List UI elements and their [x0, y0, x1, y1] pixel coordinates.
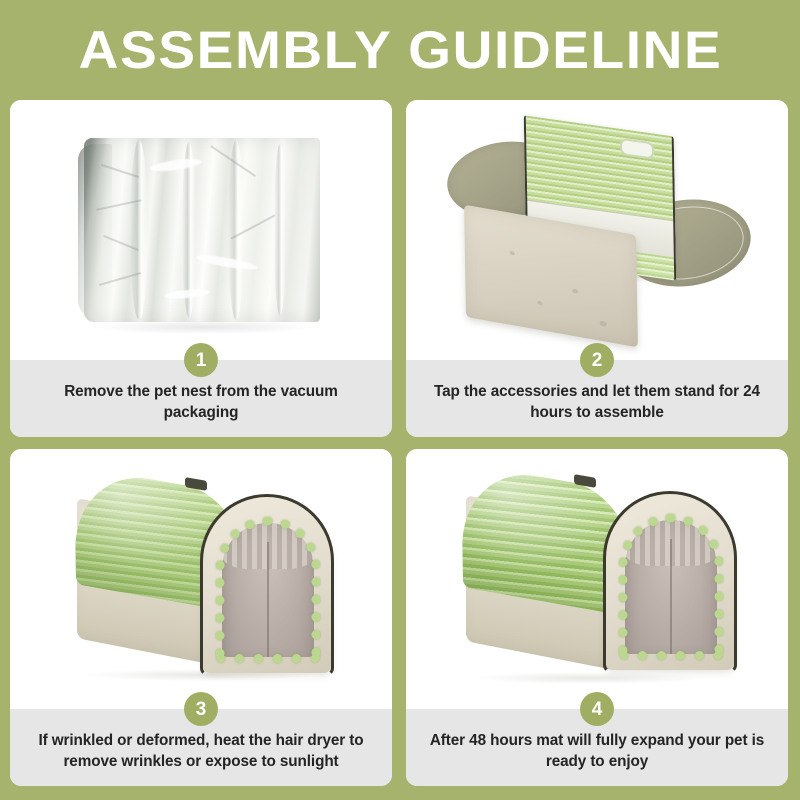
bag-left-edge	[78, 144, 112, 320]
step-4-badge: 4	[580, 692, 614, 726]
step-2-caption: 2 Tap the accessories and let them stand…	[406, 360, 788, 437]
step-1-photo	[10, 100, 392, 360]
step-1-caption: 1 Remove the pet nest from the vacuum pa…	[10, 360, 392, 437]
step-3-photo	[10, 449, 392, 709]
mat-texture-fleck	[538, 301, 543, 306]
step-3-caption: 3 If wrinkled or deformed, heat the hair…	[10, 709, 392, 786]
mat-texture-fleck	[509, 251, 514, 256]
bag-fold	[130, 140, 148, 320]
vacuum-package-illustration	[78, 130, 324, 330]
step-1-badge: 1	[184, 343, 218, 377]
mat-texture-fleck	[600, 320, 607, 326]
step-card-4[interactable]: 4 After 48 hours mat will fully expand y…	[406, 449, 788, 786]
assembly-guideline-page: ASSEMBLY GUIDELINE	[0, 0, 800, 800]
step-3-badge: 3	[184, 692, 218, 726]
step-card-2[interactable]: 2 Tap the accessories and let them stand…	[406, 100, 788, 437]
house-front-face	[203, 497, 331, 673]
step-3-caption-text: If wrinkled or deformed, heat the hair d…	[26, 731, 376, 771]
step-card-3[interactable]: 3 If wrinkled or deformed, heat the hair…	[10, 449, 392, 786]
pet-house-illustration	[67, 475, 335, 683]
steps-grid: 1 Remove the pet nest from the vacuum pa…	[10, 100, 790, 786]
house-front-face	[606, 494, 734, 670]
step-4-photo	[406, 449, 788, 709]
step-2-badge: 2	[580, 343, 614, 377]
unfolded-nest-illustration	[447, 124, 747, 336]
step-2-caption-text: Tap the accessories and let them stand f…	[422, 382, 772, 422]
step-card-1[interactable]: 1 Remove the pet nest from the vacuum pa…	[10, 100, 392, 437]
bag-ground-shadow	[96, 320, 312, 334]
step-2-photo	[406, 100, 788, 360]
header: ASSEMBLY GUIDELINE	[0, 0, 800, 96]
doorway-pompom-beads	[216, 517, 320, 663]
step-4-caption-text: After 48 hours mat will fully expand you…	[422, 731, 772, 771]
mat-texture-fleck	[572, 289, 578, 294]
pet-house-expanded-illustration	[456, 472, 738, 686]
doorway-pompom-beads	[619, 514, 723, 660]
bag-fold	[274, 144, 286, 316]
step-4-caption: 4 After 48 hours mat will fully expand y…	[406, 709, 788, 786]
step-1-caption-text: Remove the pet nest from the vacuum pack…	[26, 382, 376, 422]
page-title: ASSEMBLY GUIDELINE	[78, 24, 722, 77]
house-ground-shadow	[478, 672, 700, 684]
